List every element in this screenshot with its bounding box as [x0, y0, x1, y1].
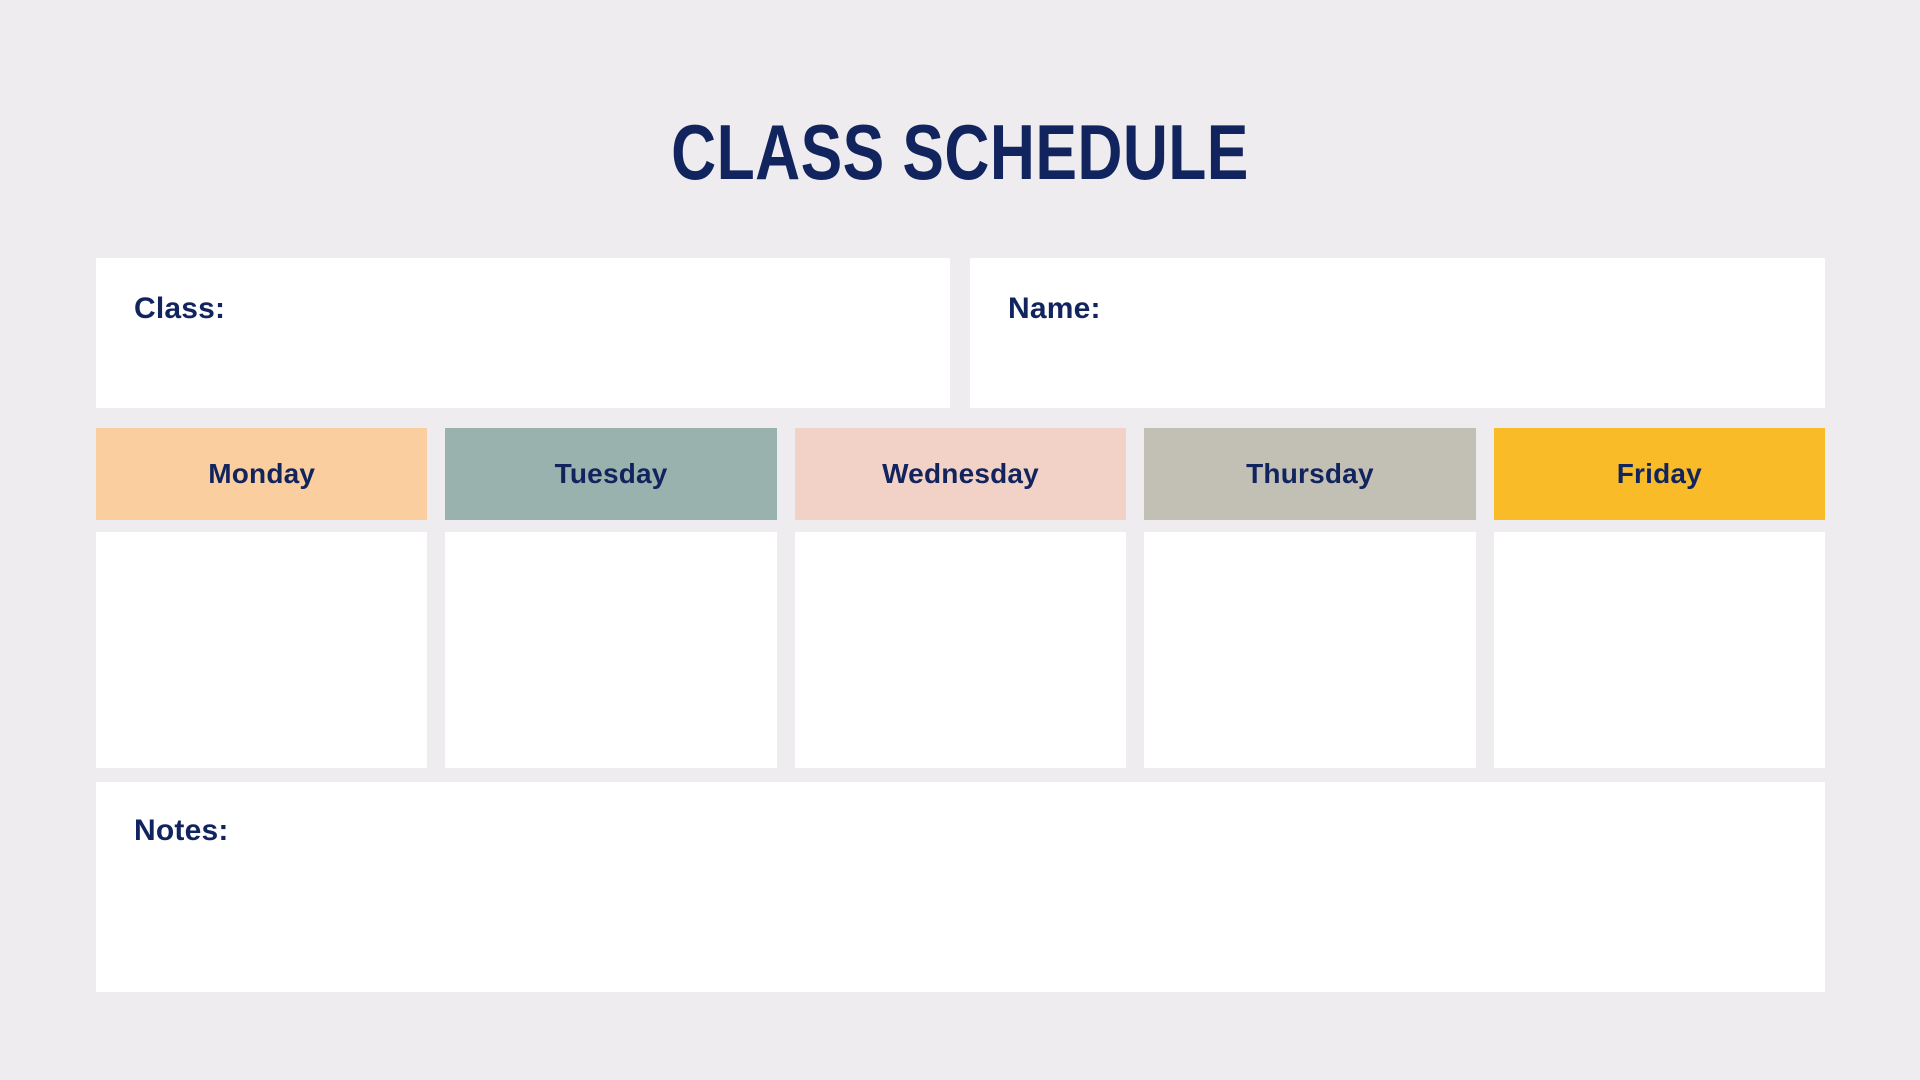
info-row: Class: Name: — [96, 258, 1825, 408]
day-column-thursday: Thursday — [1144, 428, 1475, 768]
day-header-thursday: Thursday — [1144, 428, 1475, 520]
notes-label: Notes: — [134, 814, 1825, 848]
page-title: CLASS SCHEDULE — [192, 108, 1728, 196]
day-body-monday[interactable] — [96, 532, 427, 768]
notes-card[interactable]: Notes: — [96, 782, 1825, 992]
class-field-card[interactable]: Class: — [96, 258, 950, 408]
day-body-friday[interactable] — [1494, 532, 1825, 768]
name-field-card[interactable]: Name: — [970, 258, 1825, 408]
name-field-label: Name: — [1008, 292, 1825, 326]
day-header-friday: Friday — [1494, 428, 1825, 520]
day-header-wednesday: Wednesday — [795, 428, 1126, 520]
class-schedule-page: CLASS SCHEDULE Class: Name: Monday Tuesd… — [0, 0, 1920, 1080]
day-header-tuesday: Tuesday — [445, 428, 776, 520]
day-column-friday: Friday — [1494, 428, 1825, 768]
day-body-tuesday[interactable] — [445, 532, 776, 768]
day-body-wednesday[interactable] — [795, 532, 1126, 768]
class-field-label: Class: — [134, 292, 950, 326]
day-column-wednesday: Wednesday — [795, 428, 1126, 768]
day-body-thursday[interactable] — [1144, 532, 1475, 768]
day-header-monday: Monday — [96, 428, 427, 520]
day-column-monday: Monday — [96, 428, 427, 768]
week-grid: Monday Tuesday Wednesday Thursday Friday — [96, 428, 1825, 768]
day-column-tuesday: Tuesday — [445, 428, 776, 768]
